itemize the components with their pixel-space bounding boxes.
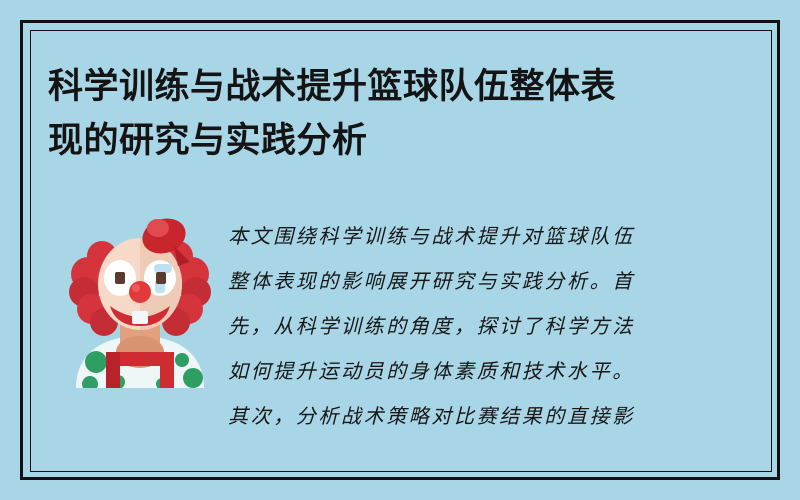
clown-nose (129, 281, 151, 303)
abstract-line-2: 整体表现的影响展开研究与实践分析。首 (228, 259, 768, 304)
clown-avatar-icon (62, 212, 218, 388)
clown-shirt-dot (85, 351, 107, 373)
clown-shirt-dot (175, 353, 189, 367)
abstract-line-4: 如何提升运动员的身体素质和技术水平。 (228, 349, 768, 394)
clown-nose-highlight (132, 284, 140, 292)
title-line-2: 现的研究与实践分析 (48, 114, 748, 168)
abstract-text: 本文围绕科学训练与战术提升对篮球队伍 整体表现的影响展开研究与实践分析。首 先，… (228, 214, 768, 439)
clown-hat-highlight (147, 219, 169, 237)
clown-overalls-shade (106, 352, 120, 388)
abstract-line-1: 本文围绕科学训练与战术提升对篮球队伍 (228, 214, 768, 259)
abstract-line-5: 其次，分析战术策略对比赛结果的直接影 (228, 394, 768, 439)
abstract-line-3: 先，从科学训练的角度，探讨了科学方法 (228, 304, 768, 349)
clown-teeth (132, 311, 148, 324)
title-line-1: 科学训练与战术提升篮球队伍整体表 (48, 60, 748, 114)
clown-eyeshadow (154, 264, 172, 273)
clown-illustration (62, 212, 218, 388)
clown-eye-right (156, 272, 166, 284)
clown-shirt-dot (183, 368, 203, 388)
page-title: 科学训练与战术提升篮球队伍整体表 现的研究与实践分析 (48, 60, 748, 168)
poster-canvas: 科学训练与战术提升篮球队伍整体表 现的研究与实践分析 (0, 0, 800, 500)
clown-eye-left (115, 272, 125, 284)
